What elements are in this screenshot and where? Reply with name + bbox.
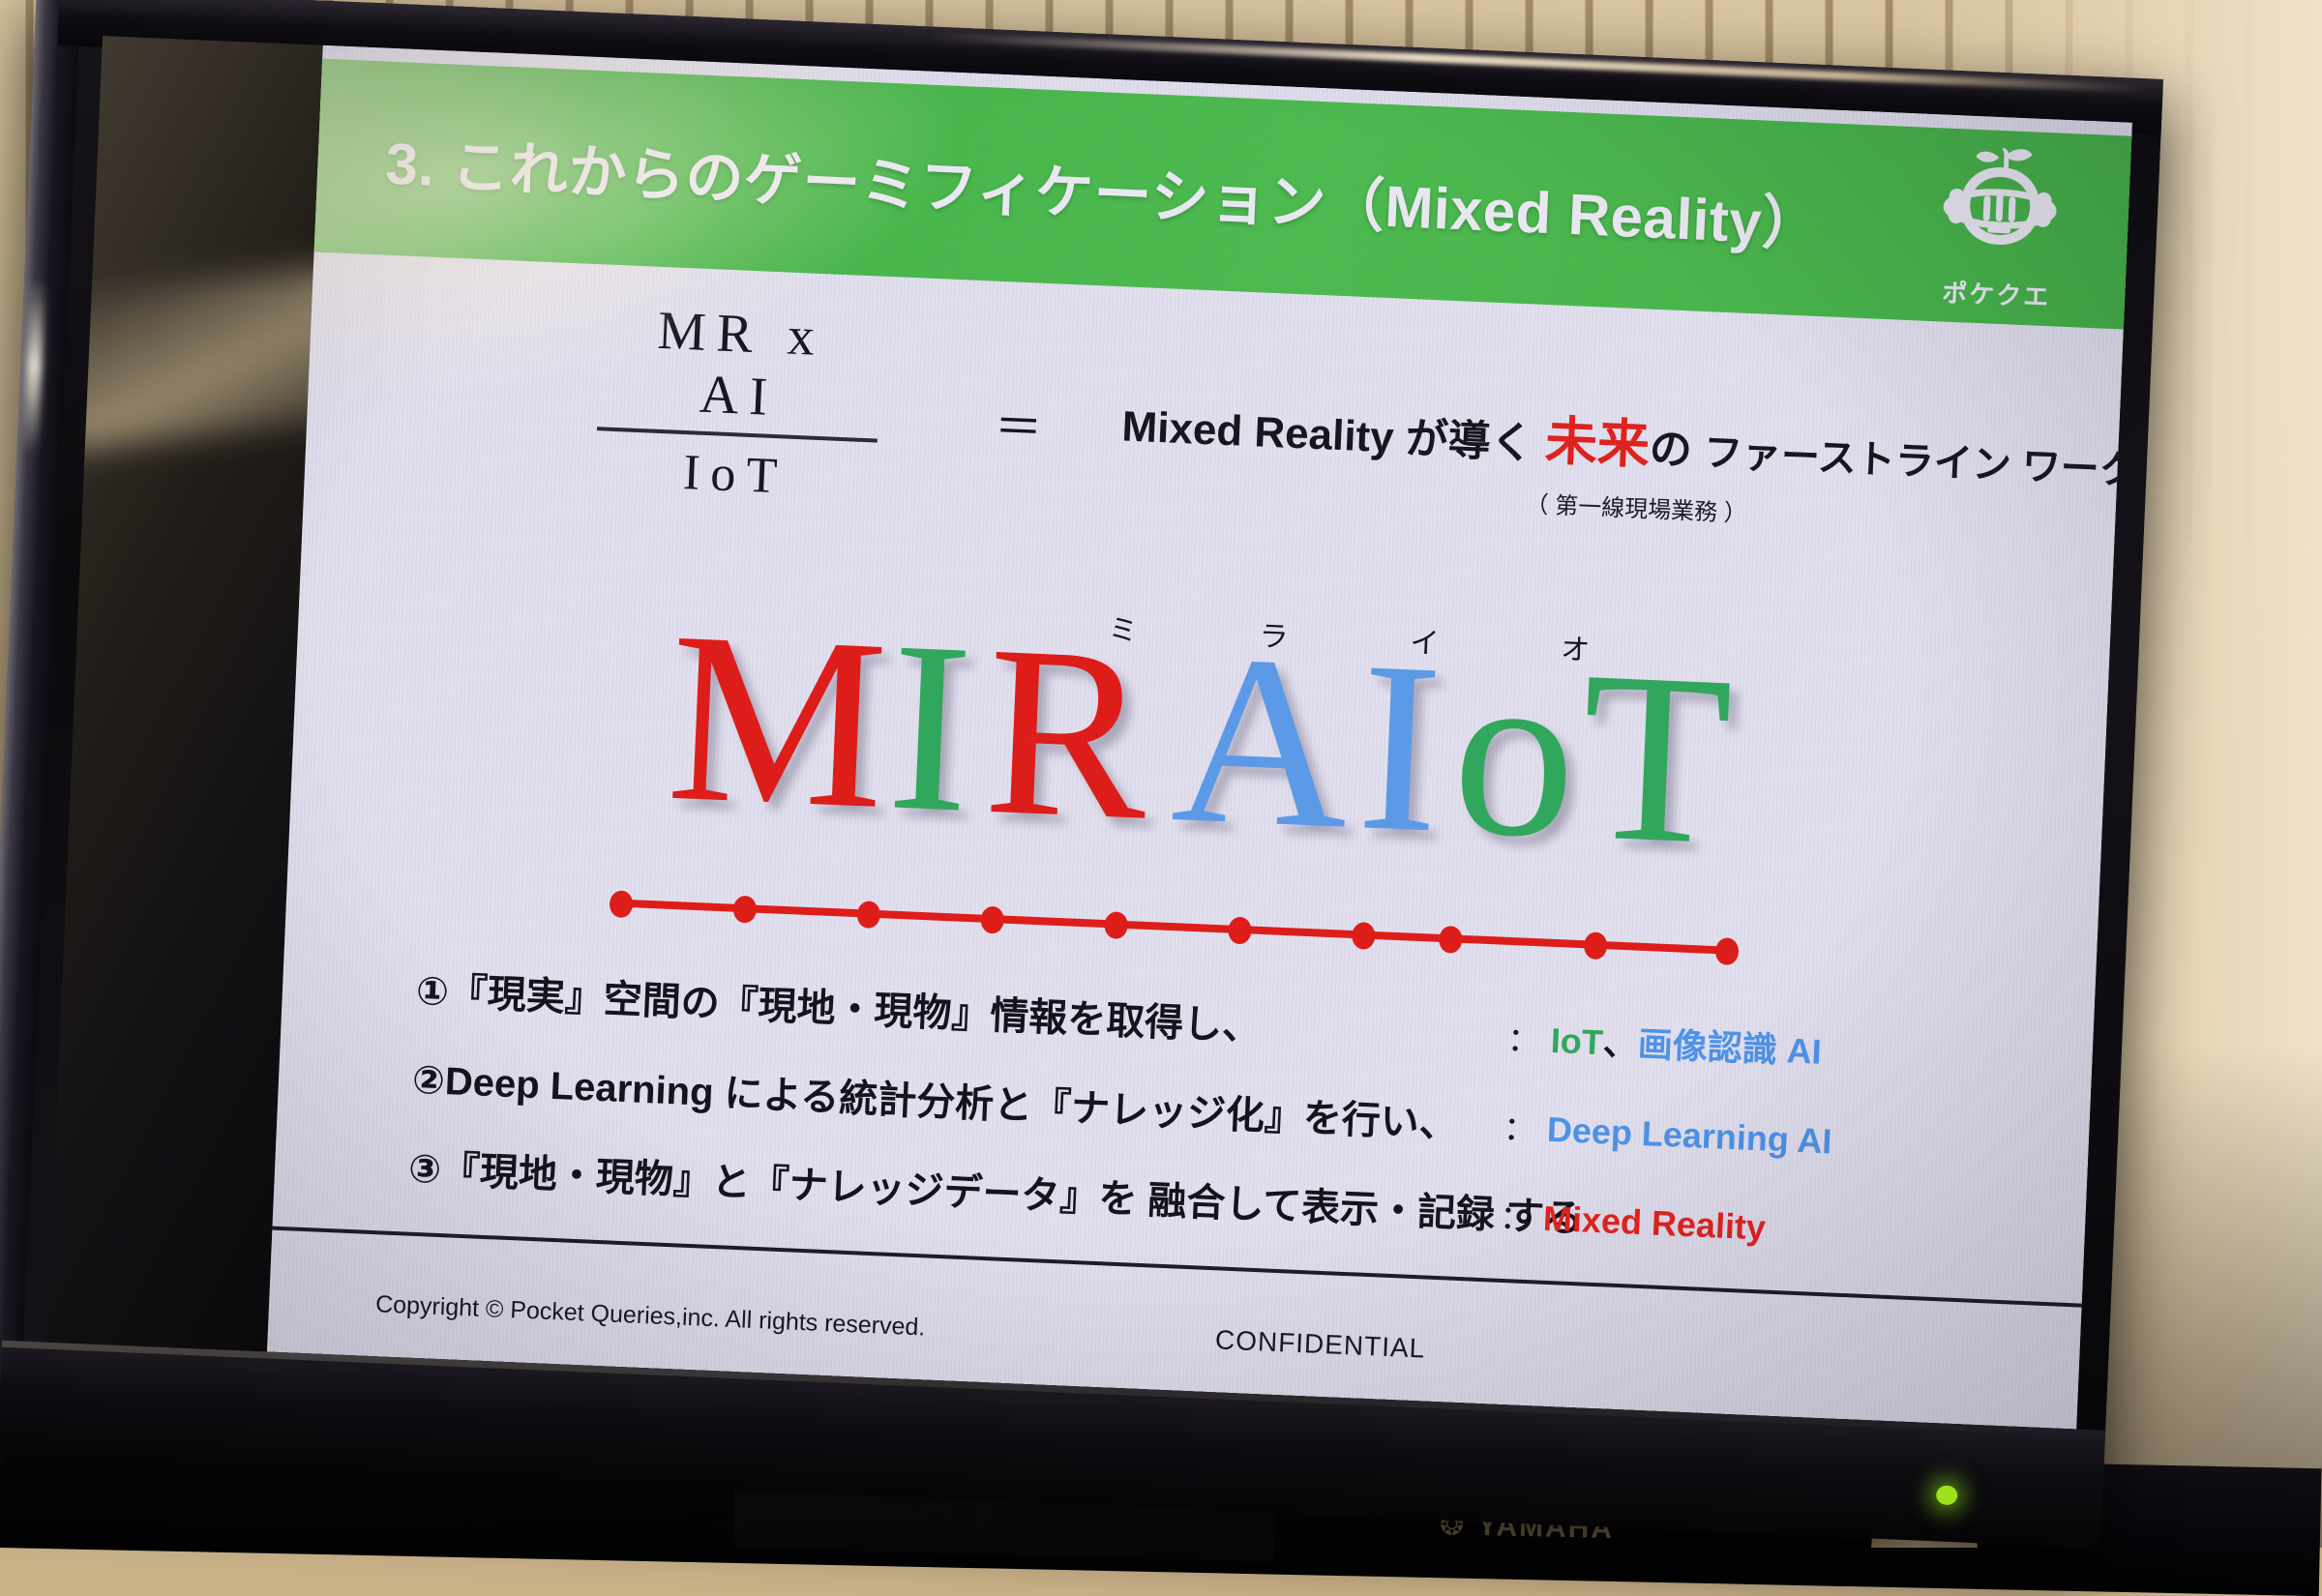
point-body: Deep Learning による統計分析と『ナレッジ化』を行い、 — [444, 1060, 1459, 1146]
point-text: ②Deep Learning による統計分析と『ナレッジ化』を行い、 — [411, 1049, 1494, 1151]
point-number: ③ — [407, 1148, 442, 1192]
timeline-dot — [1584, 931, 1608, 960]
footer-copyright: Copyright © Pocket Queries,inc. All righ… — [375, 1290, 926, 1342]
wordmark-letter-i1: I — [884, 613, 975, 841]
logo-wordmark: ポケクエ — [1942, 273, 2051, 313]
timeline-dot — [1228, 917, 1252, 945]
timeline-dot — [1104, 911, 1128, 939]
wordmark-letter-i2: I — [1354, 634, 1445, 861]
pocket-queries-mascot-icon — [1924, 143, 2075, 277]
point-colon: ： — [1496, 1013, 1552, 1062]
point-tag-a: Mixed Reality — [1542, 1198, 1767, 1248]
point-tags: Mixed Reality — [1542, 1198, 1767, 1249]
point-colon: ： — [1488, 1190, 1544, 1239]
result-accent: 未来 — [1544, 412, 1651, 475]
timeline-dot — [609, 890, 633, 918]
formula-result: Mixed Reality が導く 未来の ファーストライン ワーク （ 第一線… — [1118, 379, 2132, 545]
wordmark-letter-r: R — [981, 618, 1153, 849]
wordmark-letter-t: T — [1577, 643, 1736, 873]
wordmark-timeline — [615, 890, 1734, 962]
timeline-line — [615, 899, 1733, 954]
point-colon: ： — [1492, 1101, 1548, 1150]
miraiot-wordmark: M I R A I o T — [290, 588, 2109, 890]
tv-screen: 3. これからのゲーミフィケーション（Mixed Reality） — [46, 36, 2132, 1430]
formula-result-line: Mixed Reality が導く 未来の ファーストライン ワーク — [1120, 379, 2132, 499]
wordmark-letter-a: A — [1169, 626, 1354, 857]
point-body: 『現実』空間の『現地・現物』情報を取得し、 — [448, 971, 1262, 1049]
formula-block: MR x AI IoT ＝ Mixed Reality が導く 未来の ファース… — [304, 284, 2122, 562]
point-text: ①『現実』空間の『現地・現物』情報を取得し、 — [415, 960, 1498, 1062]
point-body: 『現地・現物』と『ナレッジデータ』を 融合して表示・記録 する — [440, 1149, 1584, 1240]
wordmark-letter-o: o — [1449, 637, 1581, 867]
pocket-queries-logo: ポケクエ — [1922, 143, 2074, 319]
point-tags: IoT、画像認識 AI — [1550, 1013, 1823, 1075]
timeline-dot — [980, 906, 1004, 934]
point-tag-a: IoT — [1550, 1020, 1604, 1062]
timeline-dot — [1439, 926, 1463, 954]
timeline-dot — [856, 901, 880, 929]
point-number: ① — [415, 970, 450, 1014]
fraction-denominator: IoT — [594, 430, 878, 509]
timeline-dot — [1714, 937, 1739, 965]
result-prefix: Mixed Reality が導く — [1121, 402, 1546, 468]
wordmark-letter-m: M — [664, 605, 884, 838]
point-tags: Deep Learning AI — [1546, 1109, 1832, 1163]
point-text: ③『現地・現物』と『ナレッジデータ』を 融合して表示・記録 する — [407, 1138, 1490, 1240]
timeline-dot — [1352, 922, 1376, 950]
point-tag-b: 画像認識 AI — [1637, 1024, 1823, 1072]
point-tag-a: Deep Learning AI — [1546, 1109, 1832, 1162]
television: 3. これからのゲーミフィケーション（Mixed Reality） — [0, 0, 2183, 1587]
slide-body: MR x AI IoT ＝ Mixed Reality が導く 未来の ファース… — [273, 252, 2124, 1296]
result-suffix: ファーストライン ワーク — [1703, 431, 2132, 492]
footer-classification: CONFIDENTIAL — [1214, 1324, 1426, 1364]
timeline-dot — [732, 896, 757, 924]
point-number: ② — [411, 1059, 446, 1103]
presentation-slide: 3. これからのゲーミフィケーション（Mixed Reality） — [267, 45, 2132, 1430]
equals-sign: ＝ — [993, 388, 1044, 459]
power-led-indicator — [1936, 1485, 1958, 1505]
slide-points-list: ①『現実』空間の『現地・現物』情報を取得し、 ： IoT、画像認識 AI ②De… — [273, 954, 2094, 1298]
fraction: MR x AI IoT — [594, 297, 883, 509]
result-mid: の — [1649, 426, 1705, 475]
fraction-numerator: MR x AI — [597, 297, 882, 438]
point-tag-separator: 、 — [1602, 1022, 1639, 1064]
